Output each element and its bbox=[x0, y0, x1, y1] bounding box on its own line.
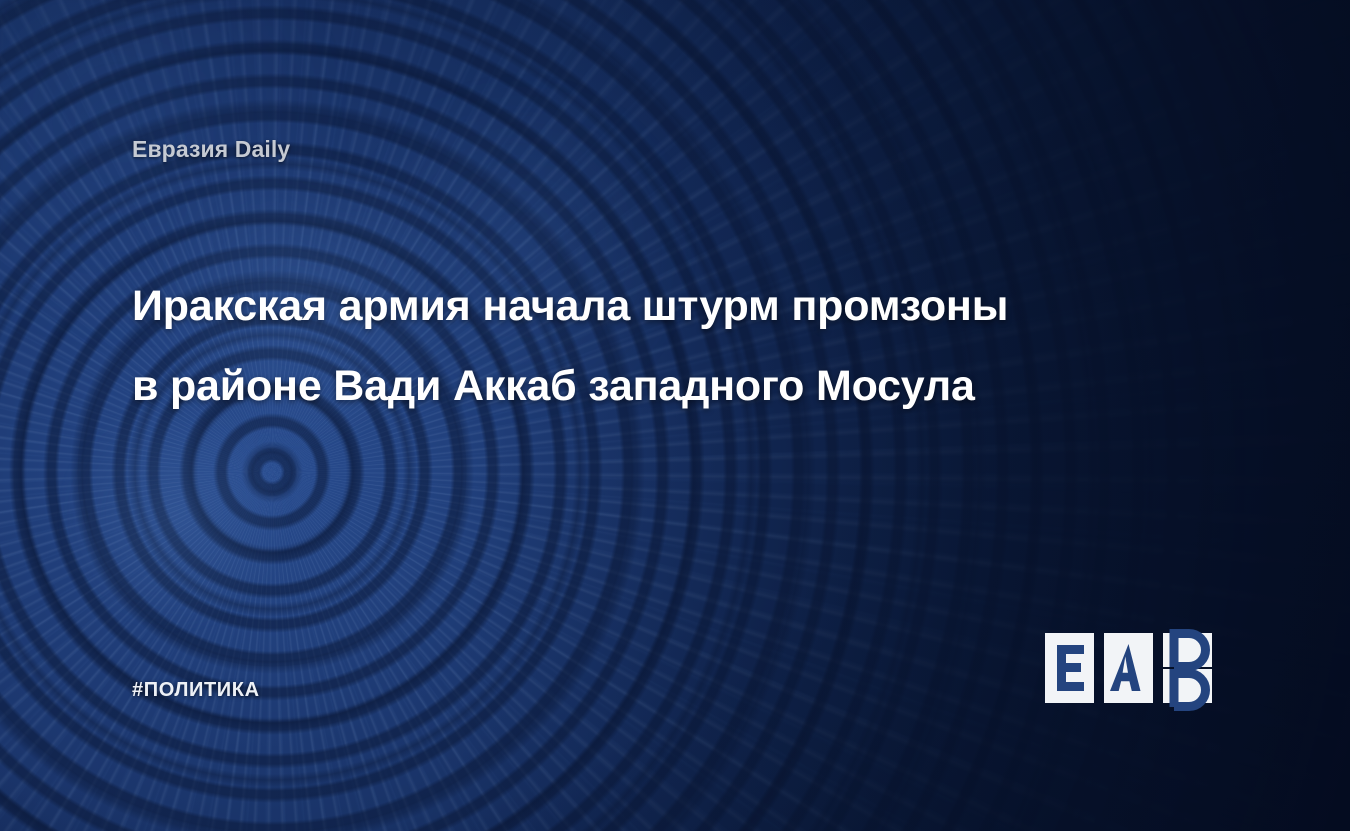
page-title: Иракская армия начала штурм промзоны в р… bbox=[132, 266, 1012, 426]
eadaily-logo bbox=[1043, 625, 1228, 711]
publication-brand: Евразия Daily bbox=[132, 136, 290, 163]
logo-letter-e-glyph bbox=[1057, 645, 1084, 691]
card-content: Евразия Daily Иракская армия начала штур… bbox=[0, 0, 1350, 831]
news-card: Евразия Daily Иракская армия начала штур… bbox=[0, 0, 1350, 831]
category-tag: #ПОЛИТИКА bbox=[132, 679, 260, 702]
